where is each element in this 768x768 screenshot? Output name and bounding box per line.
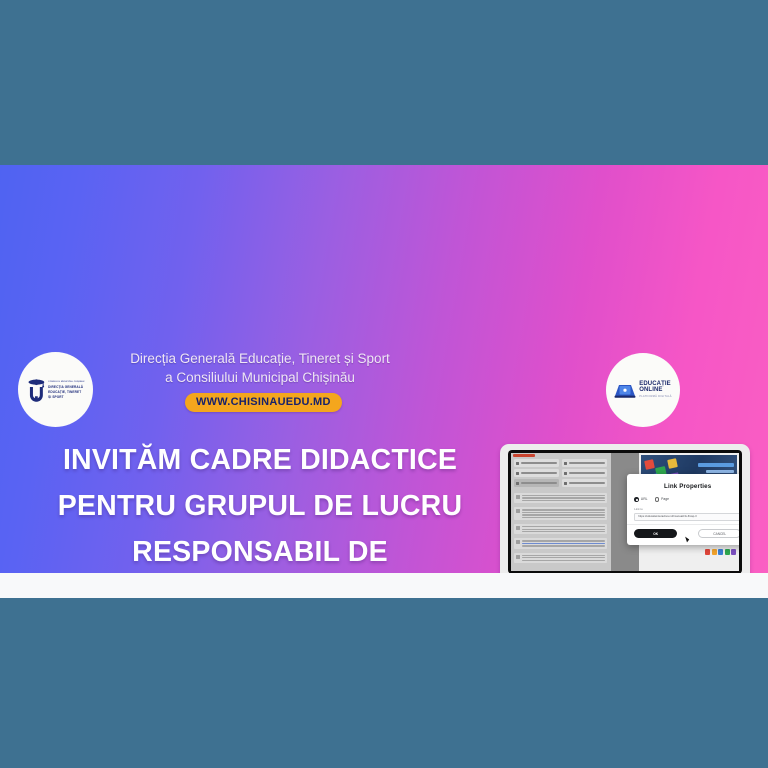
toolbar-button-link[interactable] [514, 479, 559, 487]
dialog-ok-button[interactable]: OK [634, 529, 677, 538]
organization-line-2: a Consiliului Municipal Chișinău [105, 368, 415, 387]
editor-left-pane [511, 453, 611, 571]
editor-brand-bar [513, 454, 535, 457]
dialog-title: Link Properties [634, 483, 739, 490]
link-icon [516, 482, 519, 485]
quiz-icon [564, 482, 567, 485]
toolbar-button-image[interactable] [562, 459, 607, 467]
list-item[interactable] [514, 507, 607, 520]
page-background: CONSILIUL MUNICIPAL CHIȘINĂU DIRECȚIA GE… [0, 0, 768, 768]
dgets-logo-line1: DIRECȚIA GENERALĂ [48, 385, 84, 389]
monitor-body: Link Properties URL Page [500, 444, 750, 573]
open-laptop-book-icon [614, 382, 636, 399]
graduation-cap-emblem-icon [27, 377, 47, 402]
chisinauedu-website-pill[interactable]: WWW.CHISINAUEDU.MD [185, 393, 342, 412]
radio-url[interactable]: URL [634, 497, 647, 502]
desktop-monitor-mockup: Link Properties URL Page [500, 444, 750, 573]
list-item[interactable] [514, 553, 607, 563]
dialog-divider [627, 524, 739, 525]
dgets-logo-line3: ȘI SPORT [48, 395, 84, 399]
preview-partner-icons [705, 549, 736, 555]
headline-line-1: INVITĂM CADRE DIDACTICE [14, 437, 506, 483]
toolbar-button-quiz[interactable] [562, 479, 607, 487]
dgets-logo-line2: EDUCAȚIE, TINERET [48, 390, 84, 394]
educatie-online-logo: EDUCAȚIE ONLINE PLATFORMĂ DIGITALĂ [606, 353, 680, 427]
image-icon [564, 462, 567, 465]
dialog-radio-group: URL Page [634, 497, 739, 502]
toolbar-button-audio[interactable] [562, 469, 607, 477]
radio-url-indicator [634, 497, 639, 502]
radio-page[interactable]: Page [655, 497, 669, 502]
eo-logo-line3: PLATFORMĂ DIGITALĂ [639, 394, 672, 400]
video-icon [516, 472, 519, 475]
dialog-link-input[interactable]: https://educatieinteractiva.md/manual/cl… [634, 513, 739, 521]
organization-name: Direcția Generală Educație, Tineret și S… [105, 349, 415, 387]
headline: INVITĂM CADRE DIDACTICE PENTRU GRUPUL DE… [14, 437, 506, 573]
dialog-field-label: Link to [634, 507, 739, 511]
audio-icon [564, 472, 567, 475]
toolbar-button-video[interactable] [514, 469, 559, 477]
dgets-logo: CONSILIUL MUNICIPAL CHIȘINĂU DIRECȚIA GE… [18, 352, 93, 427]
radio-url-label: URL [641, 497, 648, 501]
eo-logo-line2: ONLINE [639, 387, 672, 393]
radio-page-indicator [655, 497, 660, 502]
headline-line-3: RESPONSABIL DE [14, 529, 506, 573]
monitor-bezel: Link Properties URL Page [508, 450, 742, 573]
link-properties-dialog: Link Properties URL Page [627, 474, 739, 545]
organization-line-1: Direcția Generală Educație, Tineret și S… [130, 351, 390, 366]
editor-page-list [514, 493, 607, 567]
list-item[interactable] [514, 524, 607, 534]
editor-toolbar [514, 459, 607, 487]
headline-line-2: PENTRU GRUPUL DE LUCRU [14, 483, 506, 529]
list-item[interactable] [514, 538, 607, 548]
monitor-screen: Link Properties URL Page [511, 453, 739, 571]
dialog-cancel-button[interactable]: CANCEL [698, 529, 739, 538]
text-icon [516, 462, 519, 465]
dgets-logo-tiny-line: CONSILIUL MUNICIPAL CHIȘINĂU [48, 380, 84, 383]
bottom-white-strip [0, 573, 768, 598]
promo-banner: CONSILIUL MUNICIPAL CHIȘINĂU DIRECȚIA GE… [0, 165, 768, 573]
radio-page-label: Page [661, 497, 669, 501]
list-item[interactable] [514, 493, 607, 503]
toolbar-button-text[interactable] [514, 459, 559, 467]
